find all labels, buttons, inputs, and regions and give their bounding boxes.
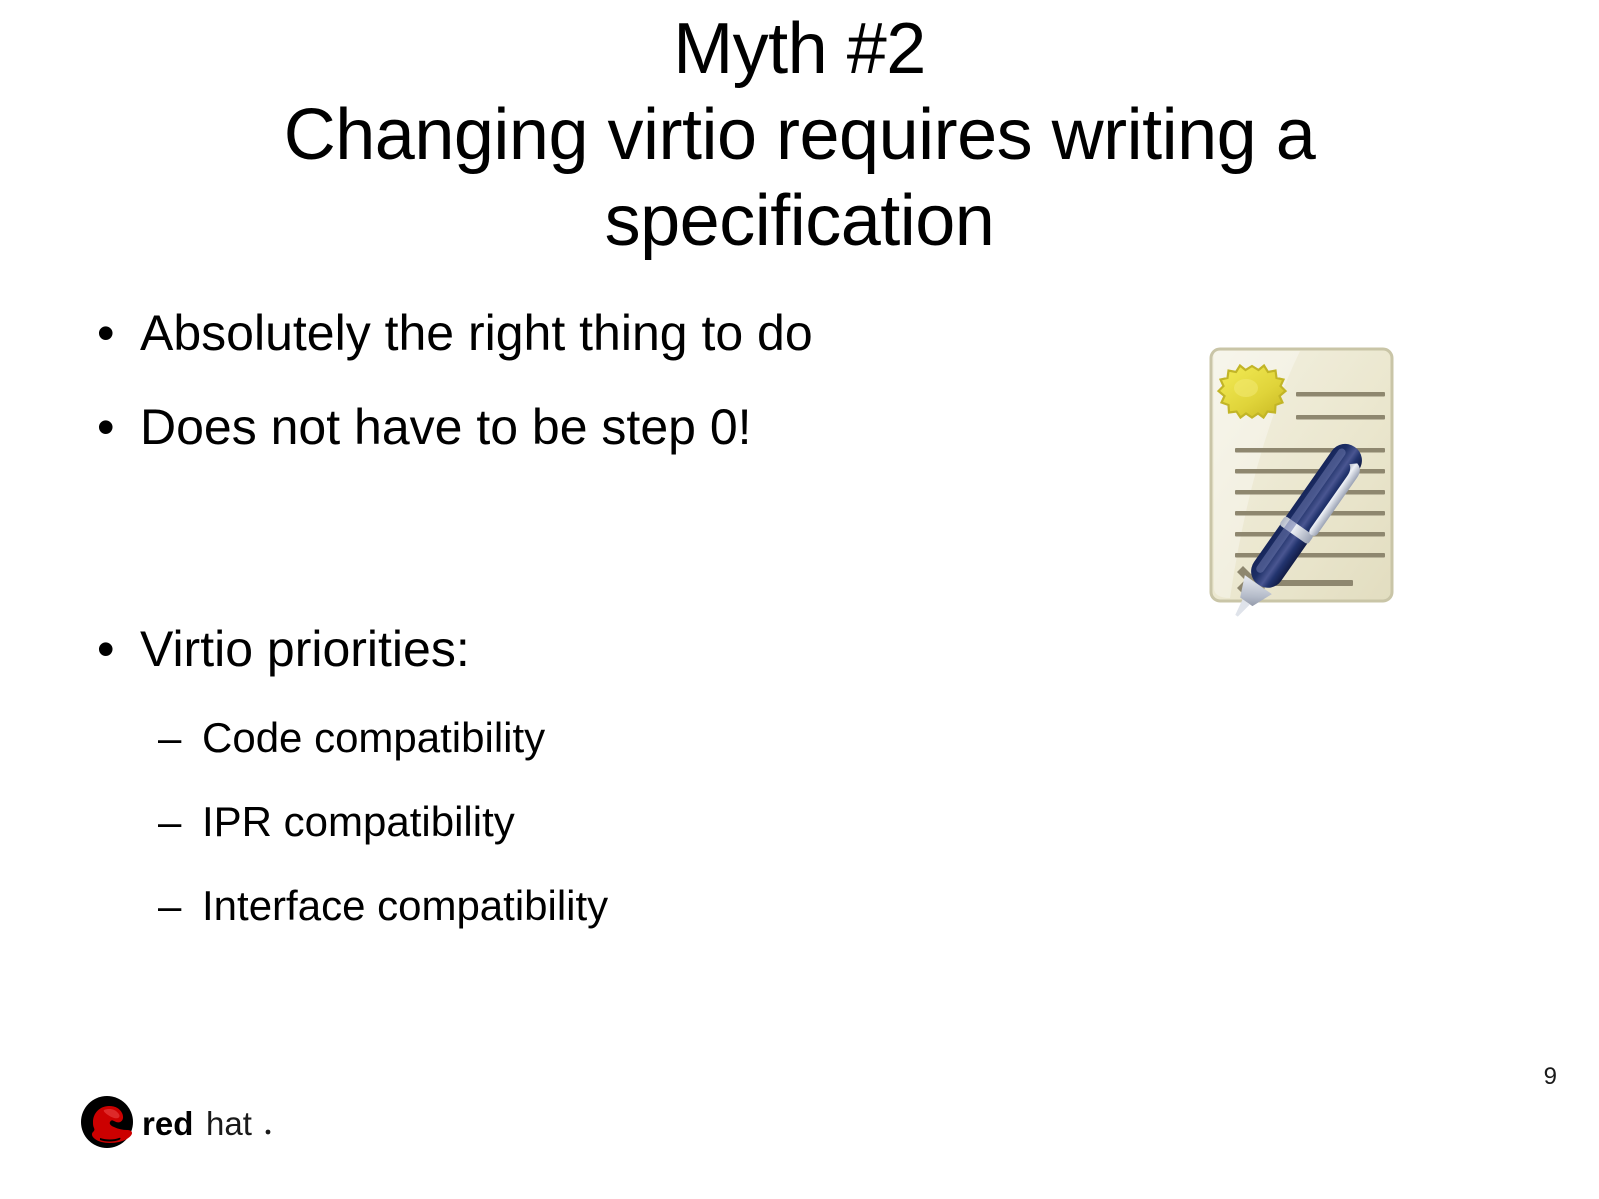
- signature-line: [1275, 580, 1353, 586]
- redhat-logo: red hat: [80, 1094, 290, 1150]
- sub-bullet-text: IPR compatibility: [202, 794, 515, 850]
- list-item: – Interface compatibility: [88, 878, 1138, 934]
- list-item: – Code compatibility: [88, 710, 1138, 766]
- title-line-2: Changing virtio requires writing a: [0, 92, 1599, 178]
- shadowman-icon: [81, 1096, 133, 1148]
- sub-bullet-text: Code compatibility: [202, 710, 545, 766]
- sub-list: – Code compatibility – IPR compatibility…: [88, 710, 1138, 934]
- page-number: 9: [1544, 1063, 1557, 1091]
- bullet-text: Does not have to be step 0!: [140, 394, 752, 460]
- body-content: • Absolutely the right thing to do • Doe…: [88, 300, 1138, 962]
- list-item: – IPR compatibility: [88, 794, 1138, 850]
- logo-word-red: red: [142, 1105, 193, 1142]
- logo-trademark-dot: [266, 1130, 271, 1135]
- page-title: Myth #2 Changing virtio requires writing…: [0, 6, 1599, 264]
- bullet-marker-icon: •: [88, 616, 140, 682]
- logo-word-hat: hat: [206, 1105, 252, 1142]
- title-line-1: Myth #2: [0, 6, 1599, 92]
- sub-bullet-text: Interface compatibility: [202, 878, 608, 934]
- bullet-text: Virtio priorities:: [140, 616, 470, 682]
- slide: Myth #2 Changing virtio requires writing…: [0, 0, 1599, 1199]
- title-line-3: specification: [0, 178, 1599, 264]
- dash-marker-icon: –: [158, 878, 202, 934]
- dash-marker-icon: –: [158, 710, 202, 766]
- list-item: • Absolutely the right thing to do: [88, 300, 1138, 366]
- contract-with-pen-icon: [1180, 330, 1430, 640]
- bullet-marker-icon: •: [88, 300, 140, 366]
- seal-icon: [1219, 366, 1286, 418]
- bullet-marker-icon: •: [88, 394, 140, 460]
- content-spacer: [88, 488, 1138, 616]
- list-item: • Virtio priorities:: [88, 616, 1138, 682]
- dash-marker-icon: –: [158, 794, 202, 850]
- list-item: • Does not have to be step 0!: [88, 394, 1138, 460]
- bullet-text: Absolutely the right thing to do: [140, 300, 813, 366]
